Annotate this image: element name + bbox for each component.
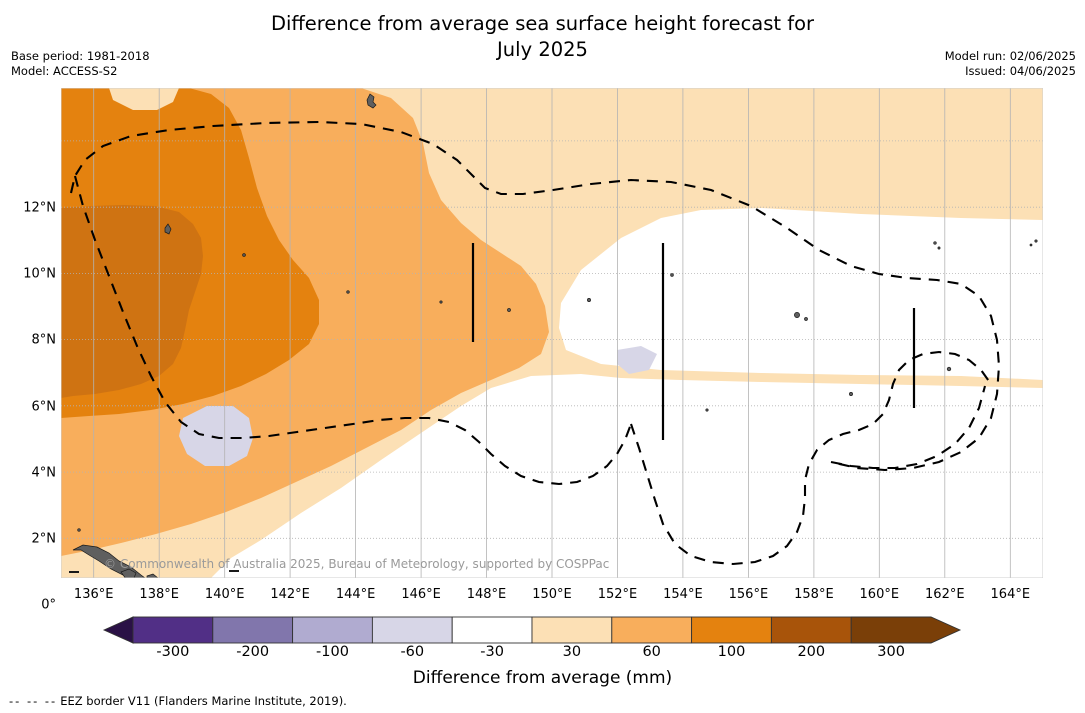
colorbar-bin-100-200[interactable] [692,617,772,643]
base-period-annotation: Base period: 1981-2018 Model: ACCESS-S2 [11,49,150,78]
colorbar-bin-minus300-minus200[interactable] [133,617,213,643]
colorbar-tick-minus60: -60 [400,644,424,660]
colorbar-bin-minus100-minus60[interactable] [293,617,373,643]
xtick-label-160E: 160°E [860,587,900,602]
xtick-label-150E: 150°E [532,587,572,602]
map-plot-area[interactable] [61,88,1043,578]
colorbar-tick-60: 60 [642,644,660,660]
xtick-label-136E: 136°E [74,587,114,602]
colorbar-bin-60-100[interactable] [612,617,692,643]
xtick-label-138E: 138°E [139,587,179,602]
colorbar-bin-200-300[interactable] [771,617,851,643]
xtick-label-162E: 162°E [925,587,965,602]
ytick-label-10N: 10°N [4,267,56,282]
xtick-label-154E: 154°E [663,587,703,602]
xtick-label-142E: 142°E [270,587,310,602]
xtick-label-156E: 156°E [729,587,769,602]
colorbar-bin-minus30-30[interactable] [452,617,532,643]
xtick-label-144E: 144°E [336,587,376,602]
xtick-label-152E: 152°E [598,587,638,602]
xtick-label-158E: 158°E [794,587,834,602]
colorbar-extend-low[interactable] [104,617,133,643]
model-run-annotation: Model run: 02/06/2025 Issued: 04/06/2025 [945,49,1076,78]
xtick-label-146E: 146°E [401,587,441,602]
colorbar-tick-minus30: -30 [480,644,504,660]
page-title: Difference from average sea surface heig… [0,11,1085,63]
colorbar-bin-30-60[interactable] [532,617,612,643]
colorbar-axis-label: Difference from average (mm) [0,668,1085,688]
ytick-label-12N: 12°N [4,200,56,215]
xtick-label-164E: 164°E [991,587,1031,602]
copyright-annotation: © Commonwealth of Australia 2025, Bureau… [104,557,609,571]
colorbar-tick-200: 200 [797,644,825,660]
colorbar-extend-high[interactable] [851,617,960,643]
map-contour-svg [61,88,1043,578]
colorbar-tick-300: 300 [877,644,905,660]
ytick-label-2N: 2°N [4,532,56,547]
xtick-label-140E: 140°E [205,587,245,602]
ytick-label-4N: 4°N [4,465,56,480]
ytick-label-6N: 6°N [4,399,56,414]
eez-legend-text: EEZ border V11 (Flanders Marine Institut… [60,694,347,708]
colorbar-tick-100: 100 [718,644,746,660]
colorbar-tick-minus200: -200 [236,644,269,660]
colorbar-swatches [104,617,960,643]
eez-dash-sample-icon: -- -- -- [9,694,57,708]
eez-legend: -- -- --EEZ border V11 (Flanders Marine … [9,694,347,708]
colorbar-tick-30: 30 [563,644,581,660]
ytick-label-8N: 8°N [4,333,56,348]
colorbar-bin-minus60-minus30[interactable] [372,617,452,643]
colorbar-tick-minus100: -100 [316,644,349,660]
figure-canvas: Difference from average sea surface heig… [0,0,1085,713]
xtick-label-148E: 148°E [467,587,507,602]
ytick-label-0: 0° [4,598,56,613]
colorbar-tick-minus300: -300 [156,644,189,660]
colorbar-bin-minus200-minus100[interactable] [213,617,293,643]
